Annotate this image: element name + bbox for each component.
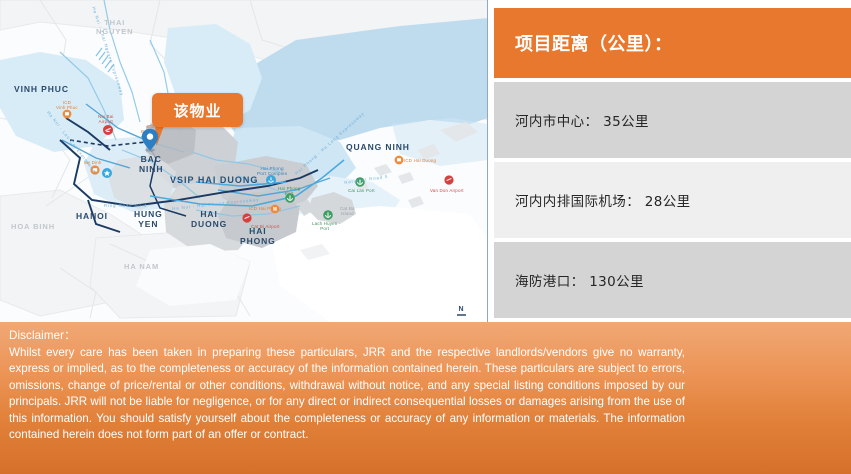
distance-row-city-center[interactable]: 河内市中心： 35公里: [494, 82, 851, 158]
slide-root: THAINGUYEN VINH PHUC HANOI BACNINH HUNGY…: [0, 0, 851, 474]
map-panel[interactable]: THAINGUYEN VINH PHUC HANOI BACNINH HUNGY…: [0, 0, 488, 322]
property-callout-label: 该物业: [173, 100, 221, 121]
distance-info-panel: 项目距离（公里）： 河内市中心： 35公里 河内内排国际机场： 28公里 海防港…: [489, 0, 851, 322]
distance-row-label: 河内内排国际机场： 28公里: [494, 190, 691, 210]
distance-row-airport[interactable]: 河内内排国际机场： 28公里: [494, 162, 851, 238]
compass-indicator: N: [456, 306, 466, 316]
distance-header-label: 项目距离（公里）：: [494, 30, 673, 56]
disclaimer-body: Disclaimer： Whilst every care has been t…: [9, 328, 685, 444]
distance-header: 项目距离（公里）：: [494, 8, 851, 78]
vietnam-region-map: [0, 0, 488, 322]
distance-row-label: 海防港口： 130公里: [494, 270, 644, 290]
disclaimer-title: Disclaimer：: [9, 328, 685, 345]
panel-divider: [487, 0, 488, 322]
property-callout[interactable]: 该物业: [152, 93, 243, 127]
compass-bar: [457, 314, 466, 316]
distance-row-seaport[interactable]: 海防港口： 130公里: [494, 242, 851, 318]
compass-label: N: [458, 306, 463, 313]
map-pin-icon[interactable]: [141, 128, 159, 152]
disclaimer-text: Whilst every care has been taken in prep…: [9, 345, 685, 444]
disclaimer-band: Disclaimer： Whilst every care has been t…: [0, 322, 851, 474]
distance-row-label: 河内市中心： 35公里: [494, 110, 649, 130]
